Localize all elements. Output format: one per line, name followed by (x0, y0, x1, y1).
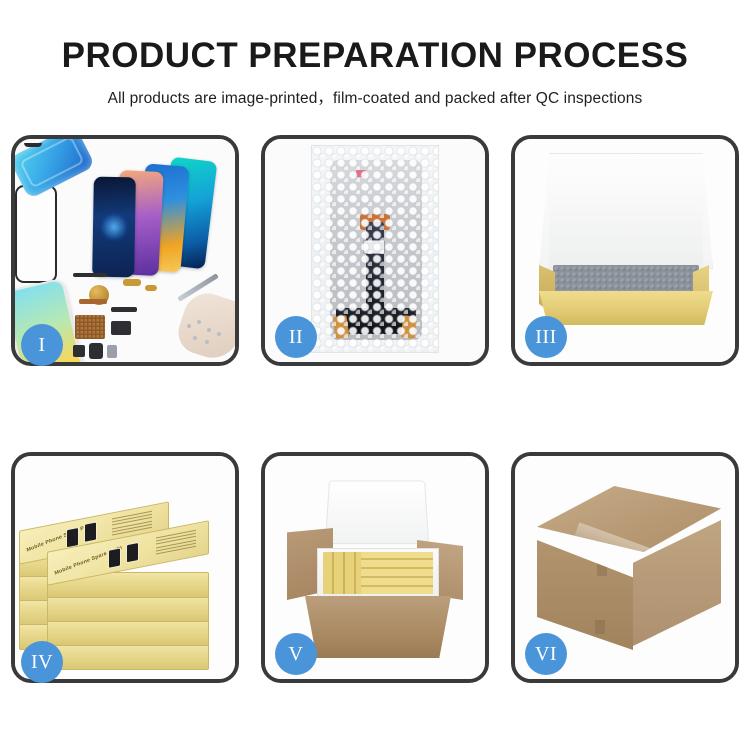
stacked-box-front-3 (47, 596, 209, 622)
box-screen-thumb-front-2 (126, 542, 139, 564)
step-panel-5: V (261, 452, 489, 683)
phone-dark-blue-image (92, 177, 136, 278)
flex-cable-part (73, 273, 107, 277)
page-subtitle: All products are image-printed，film-coat… (0, 86, 750, 108)
step-badge-1: I (21, 324, 63, 366)
connector-grid-part-image (75, 315, 105, 339)
carton-seam-top (597, 562, 607, 576)
inner-box-front-panel (539, 291, 713, 325)
yellow-boxes-row-2 (361, 552, 433, 594)
header: PRODUCT PREPARATION PROCESS All products… (0, 0, 750, 108)
camera-module-part (73, 345, 85, 357)
screws-group (185, 320, 225, 346)
step-badge-3: III (525, 316, 567, 358)
step-badge-4: IV (21, 641, 63, 683)
copper-strip-part (79, 299, 107, 304)
box-spec-lines-front (156, 530, 196, 557)
ribbon-cable-part (111, 307, 137, 312)
step-panel-2: II (261, 135, 489, 366)
battery-part (89, 343, 103, 359)
ic-chip-part (111, 321, 131, 335)
stacked-box-front-2 (47, 620, 209, 646)
sim-tray-part (107, 345, 117, 358)
step-badge-6: VI (525, 633, 567, 675)
bubble-wrap-texture (312, 146, 438, 352)
step-badge-2: II (275, 316, 317, 358)
step-badge-5: V (275, 633, 317, 675)
screen-protector-image (15, 185, 57, 283)
box-screen-thumb-front-1 (108, 547, 121, 569)
step-panel-1: I (11, 135, 239, 366)
bubble-wrap-bag-image (311, 145, 439, 353)
step-panel-6: VI (511, 452, 739, 683)
step-panel-3: III (511, 135, 739, 366)
carton-body (305, 596, 451, 658)
page-title: PRODUCT PREPARATION PROCESS (0, 36, 750, 76)
stacked-box-front-1 (47, 644, 209, 670)
product-preparation-infographic: PRODUCT PREPARATION PROCESS All products… (0, 0, 750, 750)
steps-grid: I II (11, 135, 739, 683)
box-screen-thumb-rear-2 (84, 521, 97, 543)
gold-connector-part (123, 279, 141, 286)
carton-seam-bottom (595, 620, 605, 634)
step-panel-4: Mobile Phone Spare Parts Mobile Phone Sp… (11, 452, 239, 683)
foam-lid-open (325, 481, 429, 545)
gold-button-part (145, 285, 157, 291)
